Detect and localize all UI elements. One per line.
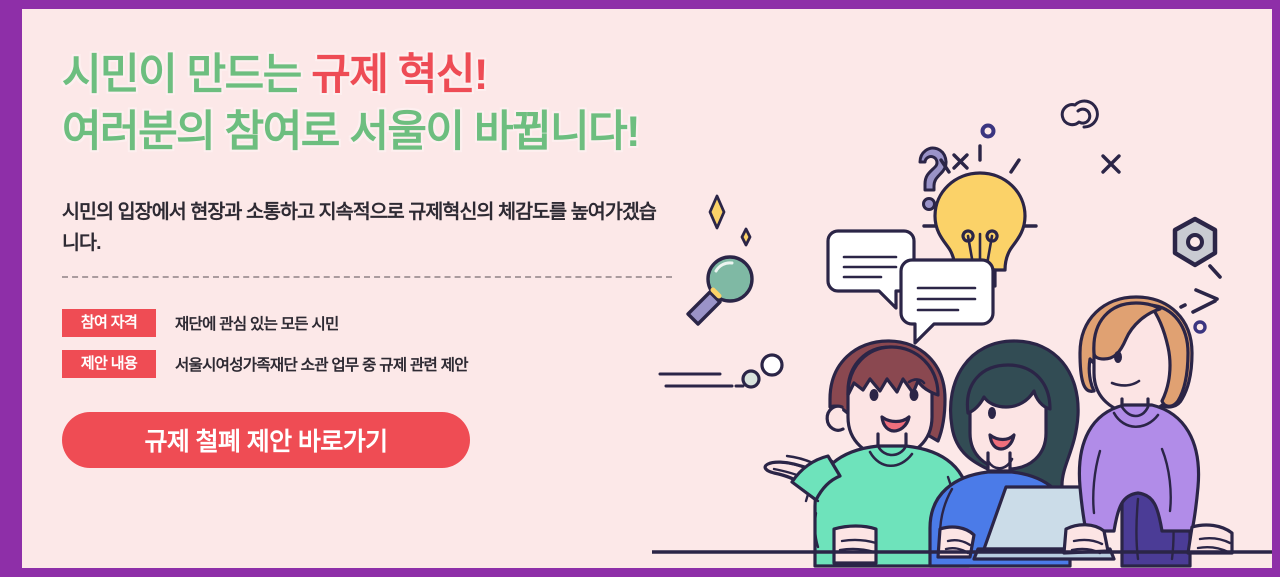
info-row-proposal: 제안 내용 서울시여성가족재단 소관 업무 중 규제 관련 제안 <box>62 350 722 378</box>
magnifier-icon <box>688 257 752 324</box>
dashed-divider <box>62 276 672 278</box>
spiral-icon <box>1062 101 1097 127</box>
info-text-proposal: 서울시여성가족재단 소관 업무 중 규제 관련 제안 <box>175 353 468 375</box>
person-right <box>1064 297 1232 566</box>
speed-lines-icon <box>660 355 782 387</box>
diamond-sparkle-icon <box>710 196 750 245</box>
sparkle-cross-icon <box>1103 156 1119 172</box>
speech-bubble-icon <box>901 260 993 343</box>
info-row-qualification: 참여 자격 재단에 관심 있는 모든 시민 <box>62 309 722 337</box>
illustration <box>652 9 1272 568</box>
headline-line-2: 여러분의 참여로 서울이 바뀝니다! <box>62 104 722 161</box>
illustration-svg <box>652 9 1272 568</box>
dash-marks-icon <box>1181 266 1220 312</box>
banner-canvas: 시민이 만드는 규제 혁신! 여러분의 참여로 서울이 바뀝니다! 시민의 입장… <box>22 9 1272 568</box>
info-row-list: 참여 자격 재단에 관심 있는 모든 시민 제안 내용 서울시여성가족재단 소관… <box>62 309 722 379</box>
cta-button-regulation-proposal[interactable]: 규제 철폐 제안 바로가기 <box>62 412 470 468</box>
hexagon-nut-icon <box>1175 219 1215 265</box>
headline-line-1-plain: 시민이 만드는 <box>62 51 311 99</box>
headline: 시민이 만드는 규제 혁신! 여러분의 참여로 서울이 바뀝니다! <box>62 47 722 161</box>
promo-banner: 시민이 만드는 규제 혁신! 여러분의 참여로 서울이 바뀝니다! 시민의 입장… <box>0 0 1280 577</box>
small-circle-icon <box>983 126 994 137</box>
banner-content: 시민이 만드는 규제 혁신! 여러분의 참여로 서울이 바뀝니다! 시민의 입장… <box>62 47 722 468</box>
badge-proposal: 제안 내용 <box>62 350 156 378</box>
subtitle-text: 시민의 입장에서 현장과 소통하고 지속적으로 규제혁신의 체감도를 높여가겠습… <box>62 197 662 260</box>
info-text-qualification: 재단에 관심 있는 모든 시민 <box>175 312 339 334</box>
headline-line-1: 시민이 만드는 규제 혁신! <box>62 47 722 104</box>
small-circle-icon <box>1195 322 1205 332</box>
sparkle-cross-icon <box>954 155 967 168</box>
headline-line-1-accent: 규제 혁신! <box>311 51 487 99</box>
badge-qualification: 참여 자격 <box>62 309 156 337</box>
